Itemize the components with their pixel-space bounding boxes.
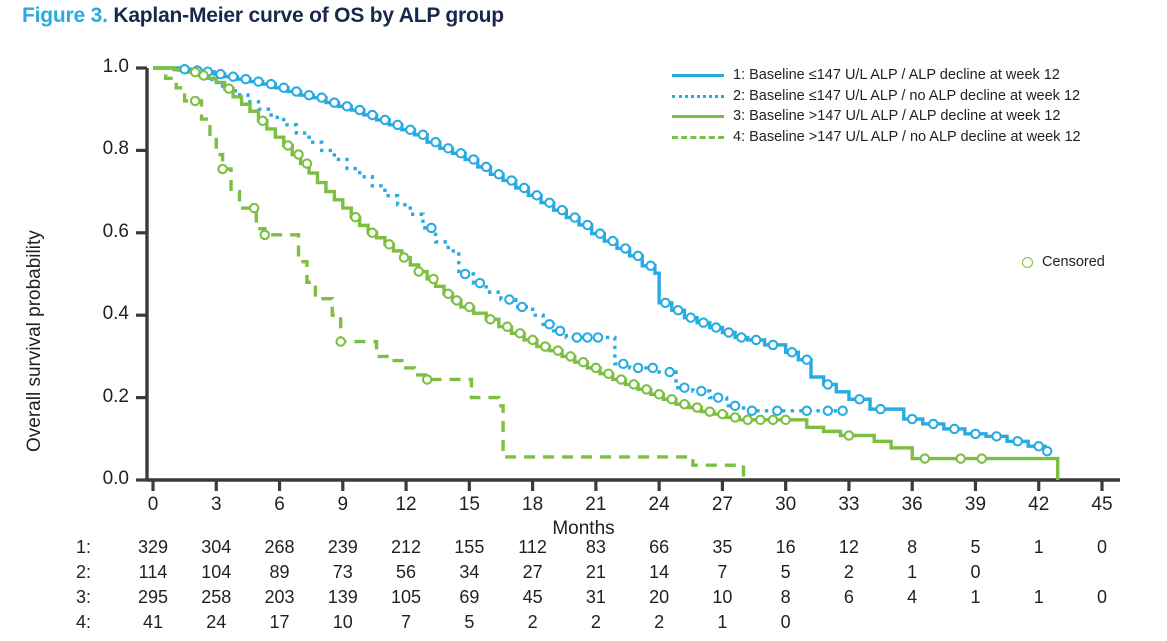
risk-cell: 212 <box>386 537 426 558</box>
x-tick-label: 24 <box>634 494 684 516</box>
risk-cell: 2 <box>513 612 553 633</box>
censored-legend: Censored <box>1022 254 1105 270</box>
censored-marker <box>769 341 777 349</box>
risk-cell: 1 <box>702 612 742 633</box>
risk-table-row: 2:1141048973563427211475210 <box>0 562 1167 587</box>
censored-marker <box>393 121 401 129</box>
censored-marker <box>1043 447 1051 455</box>
legend-item-4[interactable]: 4: Baseline >147 U/L ALP / no ALP declin… <box>672 128 1081 146</box>
censored-marker <box>646 262 654 270</box>
x-tick-label: 6 <box>255 494 305 516</box>
risk-cell: 329 <box>133 537 173 558</box>
censored-legend-label: Censored <box>1042 254 1105 270</box>
censored-marker <box>876 405 884 413</box>
risk-cell: 112 <box>513 537 553 558</box>
censored-marker <box>556 327 564 335</box>
risk-cell: 1 <box>1019 537 1059 558</box>
x-tick-label: 0 <box>128 494 178 516</box>
legend-swatch-2 <box>672 90 724 102</box>
y-tick-label: 0.0 <box>73 468 129 490</box>
censored-marker <box>971 430 979 438</box>
risk-row-label: 3: <box>51 587 91 608</box>
risk-table-row: 1:32930426823921215511283663516128510 <box>0 537 1167 562</box>
risk-cell: 16 <box>766 537 806 558</box>
censored-marker <box>634 364 642 372</box>
censored-marker <box>583 221 591 229</box>
risk-cell: 2 <box>576 612 616 633</box>
censored-marker <box>680 384 688 392</box>
x-tick-label: 45 <box>1077 494 1127 516</box>
censored-marker <box>400 253 408 261</box>
censored-marker <box>748 407 756 415</box>
censored-marker <box>216 70 224 78</box>
risk-cell: 155 <box>449 537 489 558</box>
censored-marker <box>191 68 199 76</box>
risk-cell: 21 <box>576 562 616 583</box>
censored-marker <box>427 224 435 232</box>
censored-marker <box>604 370 612 378</box>
censored-marker <box>495 170 503 178</box>
censored-marker <box>385 240 393 248</box>
risk-row-label: 1: <box>51 537 91 558</box>
y-tick-label: 0.6 <box>73 221 129 243</box>
censored-marker <box>725 328 733 336</box>
risk-cell: 1 <box>892 562 932 583</box>
censored-marker <box>803 407 811 415</box>
risk-cell: 1 <box>1019 587 1059 608</box>
censored-marker <box>465 303 473 311</box>
risk-cell: 0 <box>1082 587 1122 608</box>
censored-marker <box>630 380 638 388</box>
censored-marker <box>731 413 739 421</box>
censored-marker <box>280 84 288 92</box>
risk-cell: 0 <box>955 562 995 583</box>
chart-legend: 1: Baseline ≤147 U/L ALP / ALP decline a… <box>672 66 1081 148</box>
censored-marker <box>199 71 207 79</box>
censored-marker <box>520 184 528 192</box>
censored-marker <box>528 336 536 344</box>
legend-label-2: 2: Baseline ≤147 U/L ALP / no ALP declin… <box>733 88 1080 104</box>
censored-marker <box>218 165 226 173</box>
censored-marker <box>781 416 789 424</box>
y-tick-label: 1.0 <box>73 56 129 78</box>
censored-marker <box>731 402 739 410</box>
censored-marker <box>744 416 752 424</box>
censored-marker <box>699 318 707 326</box>
risk-cell: 20 <box>639 587 679 608</box>
censored-marker <box>431 138 439 146</box>
censored-marker <box>368 111 376 119</box>
censored-marker <box>824 407 832 415</box>
risk-cell: 1 <box>955 587 995 608</box>
censored-marker <box>191 97 199 105</box>
censored-marker <box>773 407 781 415</box>
risk-cell: 10 <box>702 587 742 608</box>
risk-cell: 2 <box>829 562 869 583</box>
censored-marker <box>303 159 311 167</box>
legend-swatch-4 <box>672 131 724 143</box>
x-tick-label: 15 <box>444 494 494 516</box>
censored-marker <box>592 364 600 372</box>
censored-marker <box>554 346 562 354</box>
censored-marker <box>351 213 359 221</box>
risk-cell: 7 <box>386 612 426 633</box>
risk-cell: 56 <box>386 562 426 583</box>
risk-cell: 268 <box>260 537 300 558</box>
censored-marker <box>242 75 250 83</box>
censored-marker <box>343 102 351 110</box>
censored-marker <box>803 355 811 363</box>
x-tick-label: 9 <box>318 494 368 516</box>
censored-marker <box>788 348 796 356</box>
censored-marker <box>845 431 853 439</box>
censored-marker <box>649 364 657 372</box>
censored-marker <box>541 342 549 350</box>
risk-cell: 0 <box>1082 537 1122 558</box>
risk-cell: 10 <box>323 612 363 633</box>
risk-cell: 114 <box>133 562 173 583</box>
censored-marker <box>756 416 764 424</box>
censored-marker <box>258 117 266 125</box>
censored-marker <box>355 106 363 114</box>
censored-marker <box>292 87 300 95</box>
censored-marker <box>661 299 669 307</box>
censored-marker <box>714 393 722 401</box>
x-tick-label: 12 <box>381 494 431 516</box>
censored-marker <box>594 333 602 341</box>
risk-cell: 34 <box>449 562 489 583</box>
x-tick-label: 27 <box>697 494 747 516</box>
risk-cell: 104 <box>196 562 236 583</box>
censored-marker <box>558 206 566 214</box>
censored-marker <box>769 416 777 424</box>
legend-item-3[interactable]: 3: Baseline >147 U/L ALP / ALP decline a… <box>672 107 1081 125</box>
x-tick-label: 33 <box>824 494 874 516</box>
censored-marker <box>318 93 326 101</box>
risk-row-label: 2: <box>51 562 91 583</box>
censored-marker <box>294 150 302 158</box>
risk-cell: 2 <box>639 612 679 633</box>
risk-cell: 89 <box>260 562 300 583</box>
censored-marker <box>415 267 423 275</box>
risk-cell: 139 <box>323 587 363 608</box>
censored-marker <box>429 275 437 283</box>
legend-label-3: 3: Baseline >147 U/L ALP / ALP decline a… <box>733 108 1060 124</box>
legend-swatch-1 <box>672 69 724 81</box>
censored-marker <box>1013 437 1021 445</box>
censored-marker <box>545 199 553 207</box>
censored-marker <box>655 390 663 398</box>
x-tick-label: 18 <box>508 494 558 516</box>
censored-marker <box>545 320 553 328</box>
risk-cell: 5 <box>766 562 806 583</box>
risk-cell: 105 <box>386 587 426 608</box>
x-tick-label: 42 <box>1014 494 1064 516</box>
risk-table-row: 4:412417107522210 <box>0 612 1167 637</box>
censored-marker <box>482 163 490 171</box>
y-tick-label: 0.4 <box>73 303 129 325</box>
risk-table-row: 3:2952582031391056945312010864110 <box>0 587 1167 612</box>
censored-marker <box>267 80 275 88</box>
censored-marker <box>406 126 414 134</box>
censored-marker <box>452 296 460 304</box>
censored-marker <box>457 149 465 157</box>
risk-cell: 203 <box>260 587 300 608</box>
risk-cell: 83 <box>576 537 616 558</box>
censored-marker <box>461 270 469 278</box>
censored-marker <box>579 358 587 366</box>
censored-marker <box>305 91 313 99</box>
censored-marker <box>476 279 484 287</box>
censored-marker <box>706 407 714 415</box>
y-axis-label: Overall survival probability <box>24 230 46 452</box>
censored-marker <box>444 290 452 298</box>
legend-label-1: 1: Baseline ≤147 U/L ALP / ALP decline a… <box>733 67 1060 83</box>
risk-cell: 8 <box>766 587 806 608</box>
censored-marker <box>516 329 524 337</box>
censored-marker <box>674 306 682 314</box>
censored-marker <box>503 323 511 331</box>
risk-cell: 31 <box>576 587 616 608</box>
risk-cell: 295 <box>133 587 173 608</box>
censored-marker <box>619 360 627 368</box>
censored-marker <box>634 252 642 260</box>
legend-label-4: 4: Baseline >147 U/L ALP / no ALP declin… <box>733 129 1081 145</box>
censored-marker <box>950 425 958 433</box>
risk-cell: 69 <box>449 587 489 608</box>
censored-marker <box>687 313 695 321</box>
censored-marker <box>680 400 688 408</box>
censored-marker <box>617 375 625 383</box>
censored-marker <box>693 403 701 411</box>
censored-marker <box>518 303 526 311</box>
censored-marker <box>469 155 477 163</box>
risk-cell: 5 <box>955 537 995 558</box>
censored-marker <box>330 98 338 106</box>
risk-cell: 7 <box>702 562 742 583</box>
risk-cell: 6 <box>829 587 869 608</box>
censored-marker <box>284 141 292 149</box>
risk-cell: 12 <box>829 537 869 558</box>
censored-marker <box>423 375 431 383</box>
censored-marker <box>254 77 262 85</box>
censored-marker <box>229 72 237 80</box>
censored-marker <box>737 333 745 341</box>
censored-marker <box>566 352 574 360</box>
censored-circle-icon <box>1022 257 1033 268</box>
legend-swatch-3 <box>672 110 724 122</box>
x-tick-label: 39 <box>950 494 1000 516</box>
censored-marker <box>642 385 650 393</box>
censored-marker <box>929 420 937 428</box>
risk-cell: 0 <box>766 612 806 633</box>
censored-marker <box>752 336 760 344</box>
censored-marker <box>573 333 581 341</box>
risk-cell: 17 <box>260 612 300 633</box>
censored-marker <box>571 213 579 221</box>
risk-row-label: 4: <box>51 612 91 633</box>
censored-marker <box>180 65 188 73</box>
risk-cell: 24 <box>196 612 236 633</box>
legend-item-1[interactable]: 1: Baseline ≤147 U/L ALP / ALP decline a… <box>672 66 1081 84</box>
x-tick-label: 30 <box>761 494 811 516</box>
censored-marker <box>250 204 258 212</box>
x-tick-label: 36 <box>887 494 937 516</box>
censored-marker <box>225 84 233 92</box>
censored-marker <box>921 454 929 462</box>
censored-marker <box>665 368 673 376</box>
censored-marker <box>336 337 344 345</box>
censored-marker <box>368 229 376 237</box>
censored-marker <box>609 237 617 245</box>
censored-marker <box>712 323 720 331</box>
y-tick-label: 0.8 <box>73 138 129 160</box>
censored-marker <box>444 144 452 152</box>
censored-marker <box>419 131 427 139</box>
censored-marker <box>621 244 629 252</box>
censored-marker <box>668 395 676 403</box>
risk-cell: 45 <box>513 587 553 608</box>
censored-marker <box>583 333 591 341</box>
x-tick-label: 3 <box>191 494 241 516</box>
censored-marker <box>697 387 705 395</box>
risk-cell: 258 <box>196 587 236 608</box>
censored-marker <box>261 231 269 239</box>
censored-marker <box>855 395 863 403</box>
censored-marker <box>533 191 541 199</box>
risk-cell: 239 <box>323 537 363 558</box>
risk-cell: 4 <box>892 587 932 608</box>
risk-cell: 14 <box>639 562 679 583</box>
risk-cell: 5 <box>449 612 489 633</box>
censored-marker <box>718 410 726 418</box>
censored-marker <box>908 415 916 423</box>
censored-marker <box>1035 442 1043 450</box>
censored-marker <box>486 315 494 323</box>
censored-marker <box>957 454 965 462</box>
x-tick-label: 21 <box>571 494 621 516</box>
censored-marker <box>381 116 389 124</box>
censored-marker <box>824 380 832 388</box>
censored-marker <box>978 454 986 462</box>
legend-item-2[interactable]: 2: Baseline ≤147 U/L ALP / no ALP declin… <box>672 87 1081 105</box>
risk-cell: 35 <box>702 537 742 558</box>
risk-cell: 73 <box>323 562 363 583</box>
risk-cell: 27 <box>513 562 553 583</box>
risk-cell: 66 <box>639 537 679 558</box>
censored-marker <box>507 176 515 184</box>
risk-cell: 304 <box>196 537 236 558</box>
risk-cell: 41 <box>133 612 173 633</box>
numbers-at-risk-table: 1:329304268239212155112836635161285102:1… <box>0 537 1167 637</box>
y-tick-label: 0.2 <box>73 386 129 408</box>
censored-marker <box>596 229 604 237</box>
censored-marker <box>838 407 846 415</box>
risk-cell: 8 <box>892 537 932 558</box>
censored-marker <box>992 432 1000 440</box>
censored-marker <box>505 295 513 303</box>
